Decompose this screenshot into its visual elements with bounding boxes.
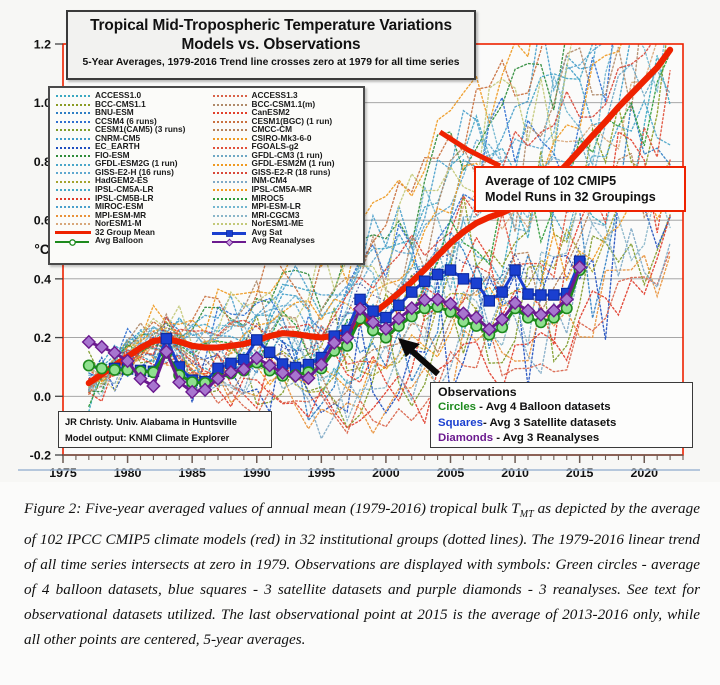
legend-item-label: Avg Balloon <box>95 236 143 245</box>
svg-text:2005: 2005 <box>437 466 465 480</box>
legend-dotted-line-swatch <box>210 151 248 159</box>
legend-swatch <box>56 147 90 149</box>
caption-part2: as depicted by the average of 102 IPCC C… <box>24 500 700 648</box>
legend-dotted-line-swatch <box>53 168 91 176</box>
chart-title-line1: Tropical Mid-Tropospheric Temperature Va… <box>68 17 474 35</box>
legend-item: IPSL-CM5A-MR <box>210 185 364 194</box>
legend-swatch <box>53 237 91 246</box>
svg-text:1980: 1980 <box>114 466 142 480</box>
observations-heading: Observations <box>438 385 692 400</box>
svg-text:0.2: 0.2 <box>34 331 51 345</box>
observation-legend-row: Squares- Avg 3 Satellite datasets <box>438 416 692 432</box>
svg-text:1985: 1985 <box>178 466 206 480</box>
callout-line1: Average of 102 CMIP5 <box>485 173 684 189</box>
legend-swatch <box>213 155 247 157</box>
legend-swatch <box>213 147 247 149</box>
credit-line1: JR Christy. Univ. Alabama in Huntsville <box>65 414 271 430</box>
legend-dotted-line-swatch <box>53 160 91 168</box>
legend-swatch <box>56 164 90 166</box>
legend-dotted-line-swatch <box>210 100 248 108</box>
legend-swatch <box>56 155 90 157</box>
observation-symbol-name: Squares <box>438 417 483 429</box>
legend-swatch-marker <box>225 238 234 247</box>
svg-text:2000: 2000 <box>372 466 400 480</box>
credit-line2: Model output: KNMI Climate Explorer <box>65 430 271 446</box>
caption-subscript: MT <box>520 509 534 520</box>
observation-description: - Avg 3 Satellite datasets <box>483 417 616 429</box>
observation-symbol-name: Circles <box>438 401 476 413</box>
legend-dotted-line-swatch <box>53 143 91 151</box>
legend-dotted-line-swatch <box>53 219 91 227</box>
legend-swatch <box>213 189 247 191</box>
svg-text:-0.2: -0.2 <box>30 449 51 463</box>
legend-dotted-line-swatch <box>53 91 91 99</box>
legend-dotted-line-swatch <box>53 108 91 116</box>
chart-legend-box: ACCESS1.0BCC-CMS1.1BNU-ESMCCSM4 (6 runs)… <box>48 86 365 265</box>
legend-swatch <box>56 104 90 106</box>
legend-swatch <box>213 172 247 174</box>
legend-swatch <box>56 215 90 217</box>
svg-text:2015: 2015 <box>566 466 594 480</box>
legend-dotted-line-swatch <box>53 117 91 125</box>
legend-dotted-line-swatch <box>210 194 248 202</box>
legend-dotted-line-swatch <box>210 91 248 99</box>
svg-text:1995: 1995 <box>308 466 336 480</box>
legend-dotted-line-swatch <box>53 211 91 219</box>
legend-swatch <box>56 189 90 191</box>
legend-dotted-line-swatch <box>53 202 91 210</box>
figure-caption: Figure 2: Five-year averaged values of a… <box>24 496 700 652</box>
observations-rows: Circles - Avg 4 Balloon datasetsSquares-… <box>438 400 692 447</box>
legend-dotted-line-swatch <box>210 168 248 176</box>
legend-dotted-line-swatch <box>53 125 91 133</box>
svg-text:0.4: 0.4 <box>34 272 51 286</box>
legend-swatch <box>213 104 247 106</box>
legend-swatch-marker <box>68 238 77 247</box>
svg-text:1975: 1975 <box>49 466 77 480</box>
legend-dotted-line-swatch <box>210 211 248 219</box>
legend-dotted-line-swatch <box>210 108 248 116</box>
observation-symbol-name: Diamonds <box>438 432 493 444</box>
observation-description: - Avg 3 Reanalyses <box>493 432 599 444</box>
legend-swatch <box>213 138 247 140</box>
legend-swatch <box>56 95 90 97</box>
legend-swatch <box>56 138 90 140</box>
legend-swatch <box>213 198 247 200</box>
legend-swatch <box>56 181 90 183</box>
svg-text:1.2: 1.2 <box>34 38 51 52</box>
legend-dotted-line-swatch <box>210 143 248 151</box>
observation-legend-row: Diamonds - Avg 3 Reanalyses <box>438 431 692 447</box>
legend-item: Avg Balloon <box>53 236 207 245</box>
svg-text:1990: 1990 <box>243 466 271 480</box>
cmip5-callout-box: Average of 102 CMIP5 Model Runs in 32 Gr… <box>474 166 686 212</box>
legend-dotted-line-swatch <box>210 117 248 125</box>
legend-square-marker-swatch <box>210 228 248 236</box>
legend-swatch <box>213 95 247 97</box>
legend-swatch <box>213 215 247 217</box>
legend-swatch <box>56 172 90 174</box>
legend-swatch <box>213 181 247 183</box>
legend-column-left: ACCESS1.0BCC-CMS1.1BNU-ESMCCSM4 (6 runs)… <box>50 88 207 263</box>
legend-dotted-line-swatch <box>53 134 91 142</box>
observation-legend-row: Circles - Avg 4 Balloon datasets <box>438 400 692 416</box>
legend-item: Avg Reanalyses <box>210 236 364 245</box>
svg-text:2010: 2010 <box>501 466 529 480</box>
chart-title-box: Tropical Mid-Tropospheric Temperature Va… <box>66 10 476 80</box>
figure-root: 1975198019851990199520002005201020152020… <box>0 0 720 685</box>
legend-diamond-marker-swatch <box>210 237 248 245</box>
legend-item-label: Avg Reanalyses <box>252 236 315 245</box>
legend-dotted-line-swatch <box>53 185 91 193</box>
chart-title-line2: Models vs. Observations <box>68 36 474 54</box>
credit-box: JR Christy. Univ. Alabama in Huntsville … <box>58 411 272 448</box>
legend-swatch <box>56 129 90 131</box>
legend-swatch <box>55 231 91 234</box>
legend-dotted-line-swatch <box>53 177 91 185</box>
legend-swatch <box>210 237 248 246</box>
legend-swatch <box>213 121 247 123</box>
legend-solid-line-swatch <box>53 228 91 236</box>
legend-circle-marker-swatch <box>53 237 91 245</box>
legend-column-right: ACCESS1.3BCC-CSM1.1(m)CanESM2CESM1(BGC) … <box>207 88 364 263</box>
observation-description: - Avg 4 Balloon datasets <box>476 401 611 413</box>
legend-swatch <box>213 164 247 166</box>
legend-swatch <box>56 206 90 208</box>
legend-item: NorESM1-ME <box>210 219 364 228</box>
svg-text:2020: 2020 <box>630 466 658 480</box>
legend-dotted-line-swatch <box>210 160 248 168</box>
chart-title-line3: 5-Year Averages, 1979-2016 Trend line cr… <box>68 57 474 68</box>
legend-swatch <box>56 198 90 200</box>
legend-dotted-line-swatch <box>53 194 91 202</box>
legend-swatch <box>56 121 90 123</box>
legend-swatch <box>213 206 247 208</box>
observations-legend-box: Observations Circles - Avg 4 Balloon dat… <box>430 382 693 448</box>
legend-dotted-line-swatch <box>53 151 91 159</box>
legend-swatch <box>56 223 90 225</box>
legend-dotted-line-swatch <box>210 219 248 227</box>
legend-dotted-line-swatch <box>210 185 248 193</box>
legend-swatch <box>213 129 247 131</box>
callout-line2: Model Runs in 32 Groupings <box>485 189 684 205</box>
legend-dotted-line-swatch <box>53 100 91 108</box>
legend-swatch <box>213 223 247 225</box>
legend-dotted-line-swatch <box>210 177 248 185</box>
figure-caption-area: Figure 2: Five-year averaged values of a… <box>0 482 720 685</box>
legend-swatch <box>56 112 90 114</box>
legend-dotted-line-swatch <box>210 202 248 210</box>
legend-dotted-line-swatch <box>210 125 248 133</box>
svg-text:0.0: 0.0 <box>34 390 51 404</box>
caption-part1: Figure 2: Five-year averaged values of a… <box>24 500 520 517</box>
legend-swatch <box>213 112 247 114</box>
legend-dotted-line-swatch <box>210 134 248 142</box>
figure-image-area: 1975198019851990199520002005201020152020… <box>0 0 720 482</box>
